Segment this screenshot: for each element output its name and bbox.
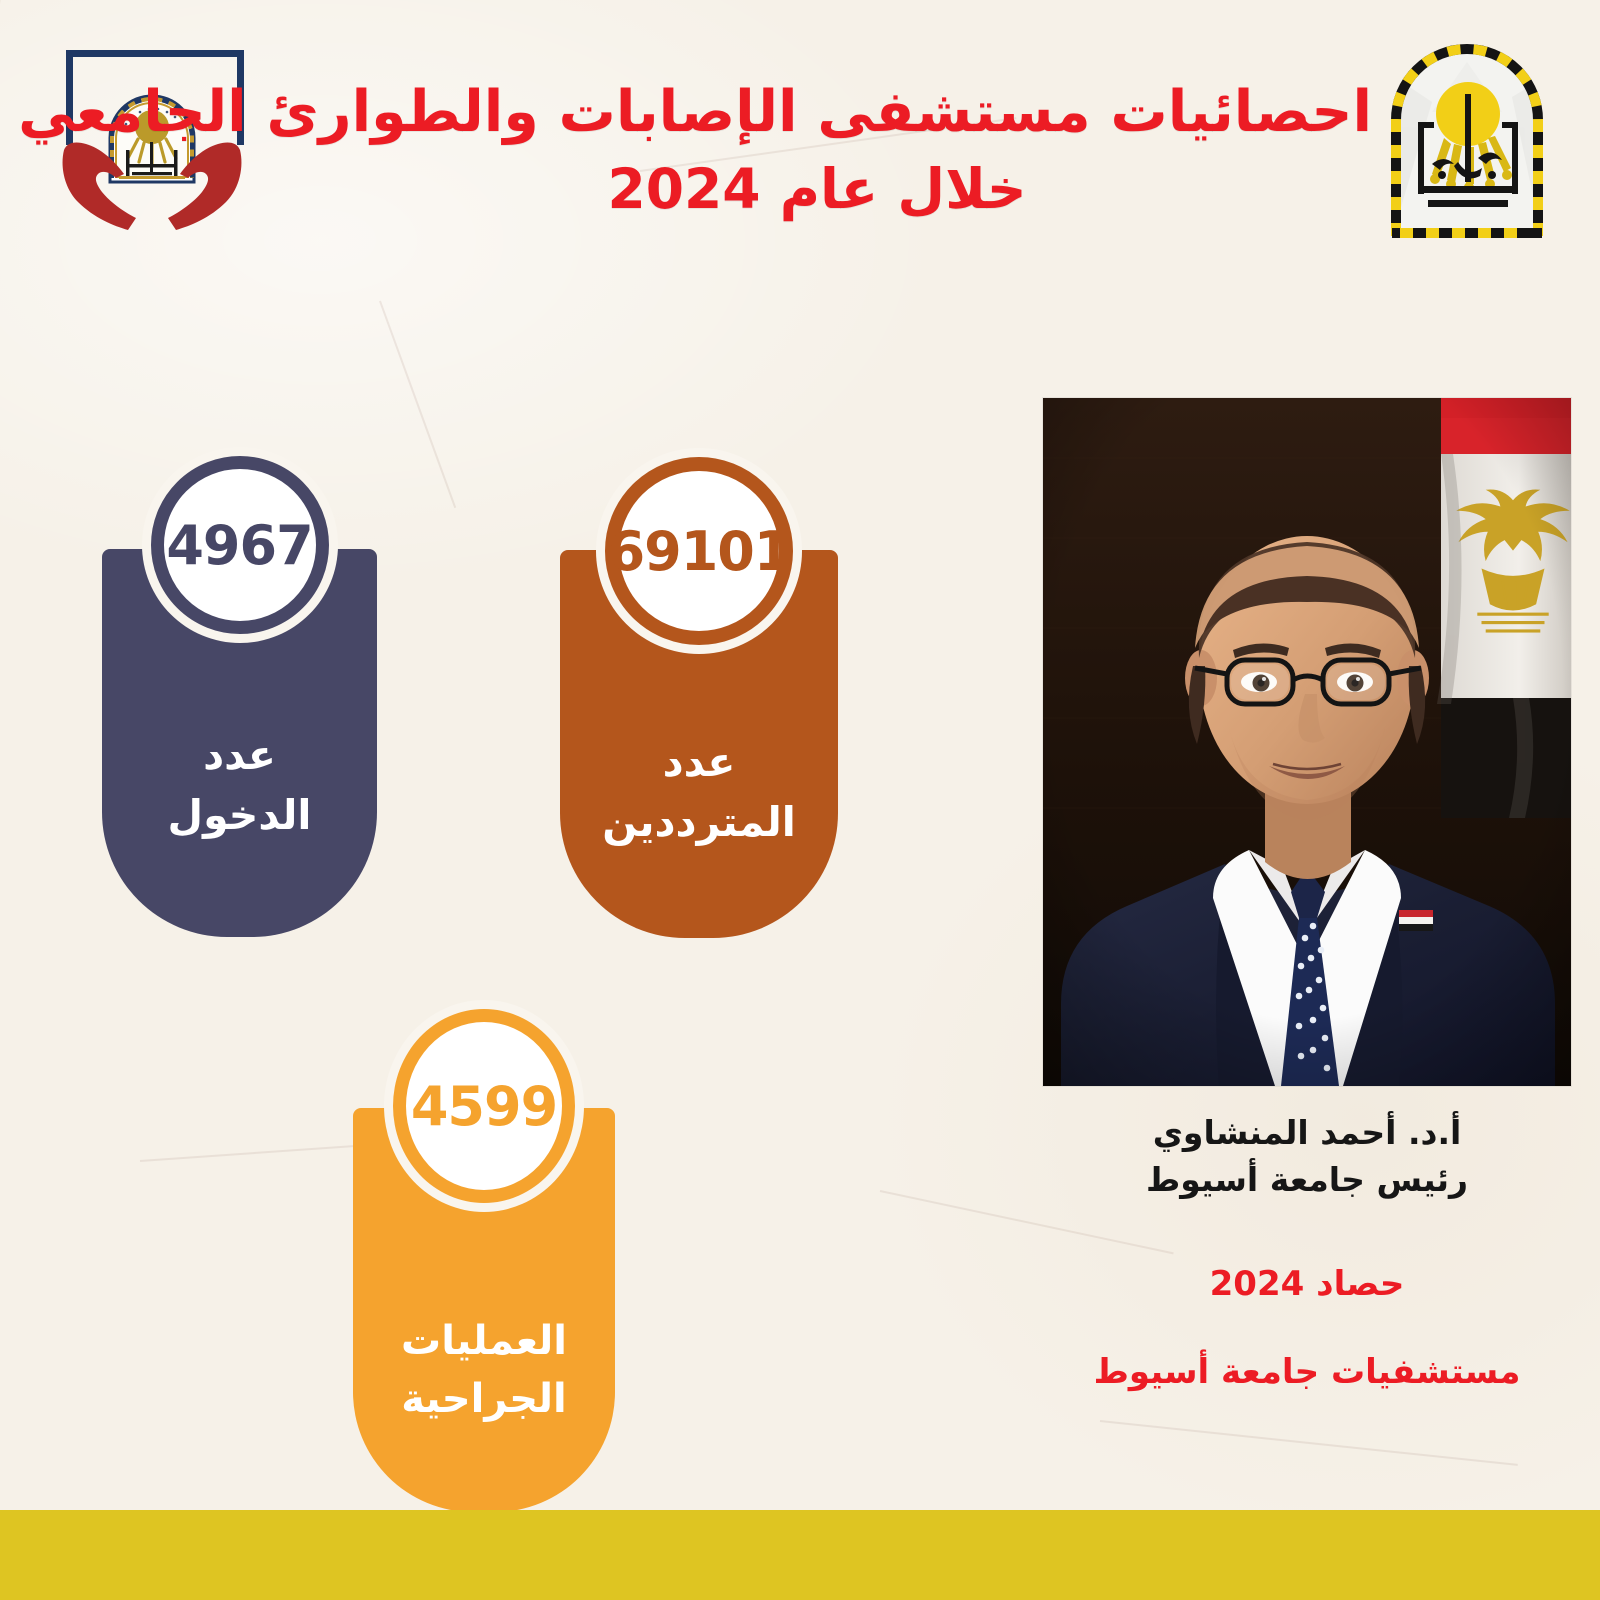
poster-title: احصائيات مستشفى الإصابات والطوارئ الجامع… — [262, 78, 1372, 223]
stat-value-bubble: 69101 — [596, 448, 802, 654]
stat-card-label: العمليات الجراحية — [353, 1312, 615, 1512]
organization-label: مستشفيات جامعة أسيوط — [1040, 1352, 1574, 1392]
stat-label-line-2: الجراحية — [363, 1370, 605, 1428]
title-line-2: خلال عام 2024 — [262, 156, 1372, 223]
stat-value-bubble-inner: 69101 — [605, 457, 793, 645]
stat-card-label: عدد الدخول — [102, 726, 377, 937]
stat-label-line-1: عدد — [570, 733, 828, 792]
stat-label-line-1: العمليات — [363, 1312, 605, 1370]
stat-value: 69101 — [608, 520, 791, 583]
stat-value-bubble-inner: 4599 — [393, 1009, 575, 1203]
stat-value: 4967 — [166, 514, 312, 577]
credit-block: أ.د. أحمد المنشاوي رئيس جامعة أسيوط حصاد… — [1040, 1110, 1574, 1392]
stat-label-line-1: عدد — [112, 726, 367, 785]
president-name: أ.د. أحمد المنشاوي — [1040, 1110, 1574, 1157]
stat-card-surgeries: العمليات الجراحية 4599 — [353, 1000, 615, 1512]
stat-card-label: عدد المترددين — [560, 733, 838, 938]
stat-value-bubble: 4599 — [384, 1000, 584, 1212]
bottom-accent-bar — [0, 1510, 1600, 1600]
stat-value: 4599 — [411, 1075, 557, 1138]
harvest-label: حصاد 2024 — [1040, 1264, 1574, 1304]
texture-scratch — [1100, 1420, 1518, 1466]
president-portrait — [1043, 398, 1571, 1086]
stat-card-visitors: عدد المترددين 69101 — [560, 448, 838, 938]
texture-scratch — [379, 301, 456, 508]
infographic-poster: احصائيات مستشفى الإصابات والطوارئ الجامع… — [0, 0, 1600, 1600]
stat-value-bubble-inner: 4967 — [151, 456, 329, 634]
assiut-university-logo — [1372, 42, 1562, 247]
stat-label-line-2: المترددين — [570, 793, 828, 852]
title-line-1: احصائيات مستشفى الإصابات والطوارئ الجامع… — [262, 78, 1372, 148]
stat-card-entries: عدد الدخول 4967 — [102, 447, 377, 937]
stat-label-line-2: الدخول — [112, 786, 367, 845]
stat-value-bubble: 4967 — [142, 447, 338, 643]
president-role: رئيس جامعة أسيوط — [1040, 1157, 1574, 1204]
